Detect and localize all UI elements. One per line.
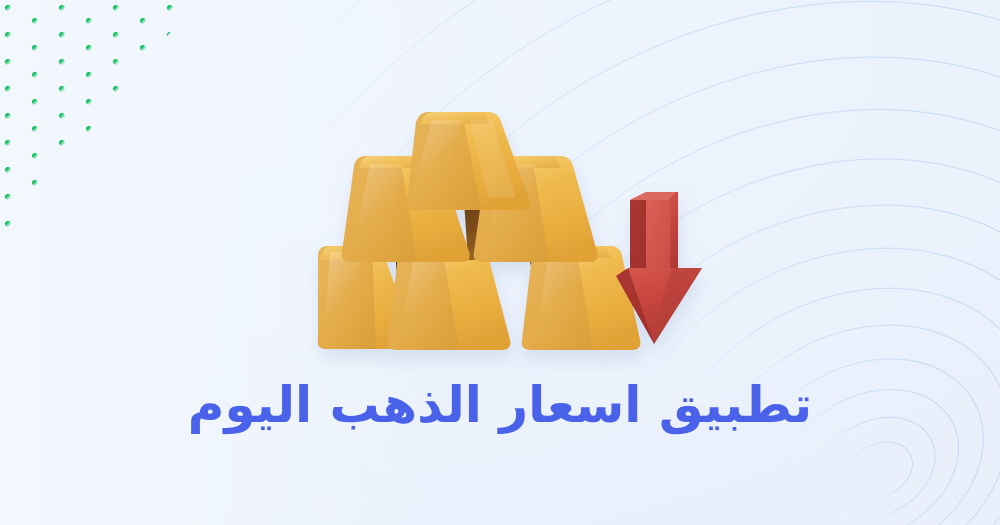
gold-price-app-banner: تطبيق اسعار الذهب اليوم <box>0 0 1000 525</box>
page-title: تطبيق اسعار الذهب اليوم <box>0 374 1000 436</box>
halftone-dots-decoration <box>0 0 210 250</box>
gold-bars-illustration <box>280 100 720 370</box>
gold-bar-top <box>406 112 529 210</box>
